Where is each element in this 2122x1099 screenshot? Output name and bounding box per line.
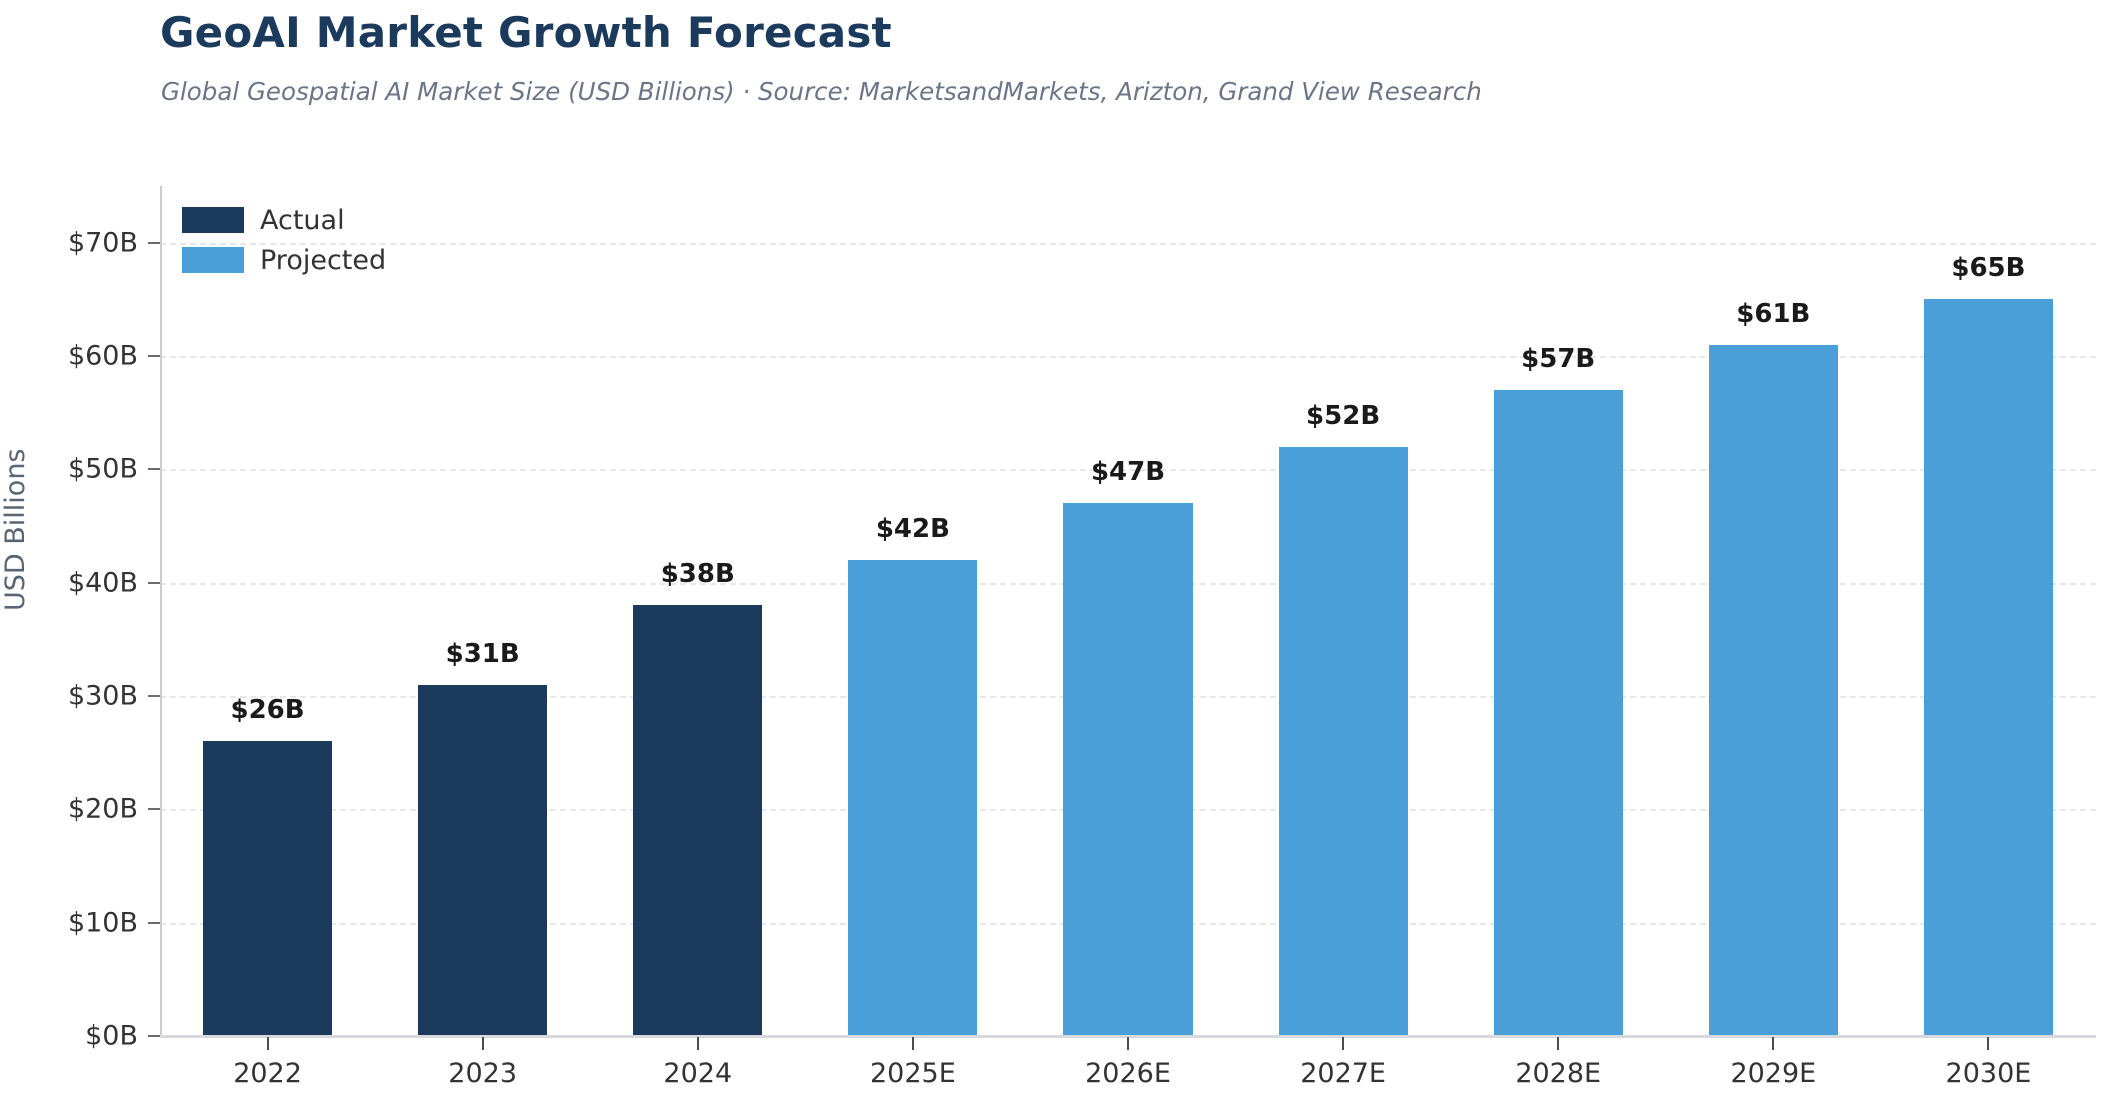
y-tick-mark xyxy=(148,582,160,584)
y-tick-mark xyxy=(148,468,160,470)
x-tick-mark xyxy=(482,1037,484,1050)
y-tick-mark xyxy=(148,355,160,357)
y-tick-mark xyxy=(148,1035,160,1037)
bar-value-label: $61B xyxy=(1666,299,1881,329)
legend-swatch-icon xyxy=(182,247,244,273)
x-tick-label-2029e: 2029E xyxy=(1730,1058,1816,1089)
x-tick-mark xyxy=(1557,1037,1559,1050)
chart-subtitle: Global Geospatial AI Market Size (USD Bi… xyxy=(161,77,1482,106)
legend: ActualProjected xyxy=(182,205,386,275)
legend-item-projected[interactable]: Projected xyxy=(182,245,386,275)
bar-2024[interactable] xyxy=(633,605,762,1036)
bar-2023[interactable] xyxy=(418,685,547,1036)
x-tick-label-2023: 2023 xyxy=(448,1058,517,1089)
y-tick-label: $70B xyxy=(28,227,138,258)
y-tick-label: $30B xyxy=(28,681,138,712)
bar-2022[interactable] xyxy=(203,741,332,1036)
x-tick-mark xyxy=(1772,1037,1774,1050)
x-tick-label-2030e: 2030E xyxy=(1946,1058,2032,1089)
x-tick-mark xyxy=(1342,1037,1344,1050)
legend-label: Projected xyxy=(260,245,386,276)
y-axis-title: USD Billions xyxy=(0,448,31,611)
bar-value-label: $65B xyxy=(1881,253,2096,283)
bar-group: $26B$31B$38B$42B$47B$52B$57B$61B$65B xyxy=(160,186,2096,1036)
y-tick-label: $60B xyxy=(28,341,138,372)
bar-slot: $26B xyxy=(160,186,375,1036)
y-tick-mark xyxy=(148,922,160,924)
bar-slot: $52B xyxy=(1236,186,1451,1036)
bar-value-label: $38B xyxy=(590,559,805,589)
bar-slot: $47B xyxy=(1020,186,1235,1036)
y-tick-label: $40B xyxy=(28,567,138,598)
y-tick-label: $10B xyxy=(28,907,138,938)
page-title: GeoAI Market Growth Forecast xyxy=(160,8,892,57)
x-tick-mark xyxy=(912,1037,914,1050)
bar-value-label: $42B xyxy=(805,514,1020,544)
bar-value-label: $52B xyxy=(1236,401,1451,431)
bar-2027e[interactable] xyxy=(1279,447,1408,1036)
bar-value-label: $31B xyxy=(375,639,590,669)
bar-value-label: $57B xyxy=(1451,344,1666,374)
legend-item-actual[interactable]: Actual xyxy=(182,205,386,235)
bar-slot: $42B xyxy=(805,186,1020,1036)
legend-label: Actual xyxy=(260,205,345,236)
bar-2026e[interactable] xyxy=(1063,503,1192,1036)
plot-area: $26B$31B$38B$42B$47B$52B$57B$61B$65B xyxy=(160,186,2096,1036)
bar-slot: $57B xyxy=(1451,186,1666,1036)
y-tick-mark xyxy=(148,695,160,697)
bar-slot: $38B xyxy=(590,186,805,1036)
x-tick-label-2025e: 2025E xyxy=(870,1058,956,1089)
x-tick-label-2026e: 2026E xyxy=(1085,1058,1171,1089)
y-tick-mark xyxy=(148,242,160,244)
chart-container: GeoAI Market Growth Forecast Global Geos… xyxy=(0,0,2122,1099)
legend-swatch-icon xyxy=(182,207,244,233)
bar-value-label: $26B xyxy=(160,695,375,725)
bar-2028e[interactable] xyxy=(1494,390,1623,1036)
bar-slot: $65B xyxy=(1881,186,2096,1036)
x-tick-mark xyxy=(697,1037,699,1050)
x-tick-label-2028e: 2028E xyxy=(1515,1058,1601,1089)
y-axis-spine xyxy=(160,186,162,1036)
bar-2025e[interactable] xyxy=(848,560,977,1036)
x-tick-mark xyxy=(267,1037,269,1050)
bar-value-label: $47B xyxy=(1020,457,1235,487)
y-tick-label: $20B xyxy=(28,794,138,825)
x-tick-label-2027e: 2027E xyxy=(1300,1058,1386,1089)
x-tick-label-2024: 2024 xyxy=(663,1058,732,1089)
y-tick-label: $0B xyxy=(28,1021,138,1052)
bar-slot: $61B xyxy=(1666,186,1881,1036)
x-tick-mark xyxy=(1987,1037,1989,1050)
bar-slot: $31B xyxy=(375,186,590,1036)
x-tick-mark xyxy=(1127,1037,1129,1050)
x-tick-label-2022: 2022 xyxy=(233,1058,302,1089)
y-tick-mark xyxy=(148,808,160,810)
bar-2030e[interactable] xyxy=(1924,299,2053,1036)
y-tick-label: $50B xyxy=(28,454,138,485)
bar-2029e[interactable] xyxy=(1709,345,1838,1036)
